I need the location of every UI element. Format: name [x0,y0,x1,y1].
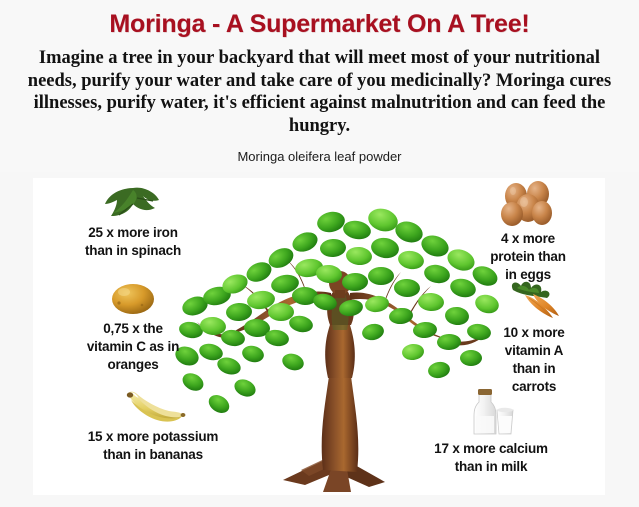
fact-calcium-label: 17 x more calcium than in milk [434,441,548,474]
header-section: Moringa - A Supermarket On A Tree! Imagi… [0,0,639,172]
banana-icon [47,390,259,426]
subtitle-caption: Moringa oleifera leaf powder [0,137,639,172]
orange-fruit-icon [39,278,227,318]
fact-protein: 4 x more protein than in eggs [453,180,603,284]
fact-vitamin-a-label: 10 x more vitamin A than in carrots [503,325,564,394]
fact-calcium: 17 x more calcium than in milk [385,386,597,476]
milk-bottle-icon [385,386,597,438]
intro-paragraph: Imagine a tree in your backyard that wil… [0,41,639,137]
spinach-leaf-icon [39,184,227,222]
fact-vitamin-a: 10 x more vitamin A than in carrots [463,278,605,396]
fact-potassium-label: 15 x more potassium than in bananas [88,429,219,462]
eggs-icon [453,180,603,228]
fact-potassium: 15 x more potassium than in bananas [47,390,259,464]
page-title: Moringa - A Supermarket On A Tree! [0,6,639,41]
fact-vitamin-c: 0,75 x the vitamin C as in oranges [39,278,227,374]
fact-protein-label: 4 x more protein than in eggs [490,231,566,282]
fact-iron: 25 x more iron than in spinach [39,184,227,260]
carrot-icon [463,278,605,322]
fact-vitamin-c-label: 0,75 x the vitamin C as in oranges [87,321,179,372]
infographic-panel: 25 x more iron than in spinach 0,75 x th… [33,178,605,495]
fact-iron-label: 25 x more iron than in spinach [85,225,181,258]
